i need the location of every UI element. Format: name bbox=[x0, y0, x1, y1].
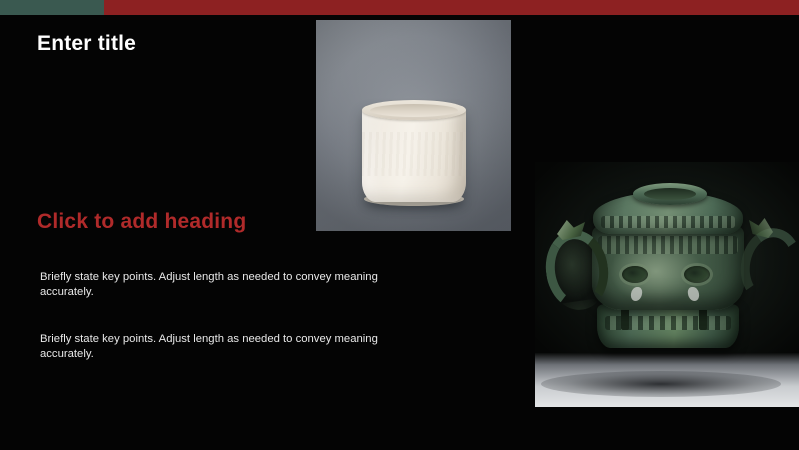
body-paragraph-2[interactable]: Briefly state key points. Adjust length … bbox=[40, 332, 412, 362]
accent-bar-red bbox=[104, 0, 799, 15]
presentation-slide: Enter title Click to add heading Briefly… bbox=[0, 0, 799, 450]
taotie-nostril-left bbox=[630, 287, 643, 301]
bronze-cast-shadow bbox=[541, 371, 781, 397]
image-white-jade-vessel[interactable] bbox=[316, 20, 511, 231]
taotie-eye-right-icon bbox=[684, 266, 710, 283]
taotie-nostril-right bbox=[687, 287, 700, 301]
bronze-foot-tab-right bbox=[699, 308, 707, 330]
slide-title[interactable]: Enter title bbox=[37, 32, 136, 56]
jade-vessel-mouth bbox=[370, 104, 458, 117]
bronze-foot-tab-left bbox=[621, 308, 629, 330]
slide-heading-placeholder[interactable]: Click to add heading bbox=[37, 210, 246, 234]
taotie-eye-left-icon bbox=[622, 266, 648, 283]
jade-vessel-body bbox=[362, 106, 466, 202]
image-bronze-gui-vessel[interactable] bbox=[535, 162, 799, 407]
accent-bar-green bbox=[0, 0, 104, 15]
bronze-lid-knob bbox=[633, 183, 707, 205]
body-paragraph-1[interactable]: Briefly state key points. Adjust length … bbox=[40, 270, 412, 300]
bronze-vessel-foot-ring bbox=[597, 304, 739, 348]
top-accent-bar bbox=[0, 0, 799, 15]
bronze-vessel-body bbox=[592, 224, 744, 310]
